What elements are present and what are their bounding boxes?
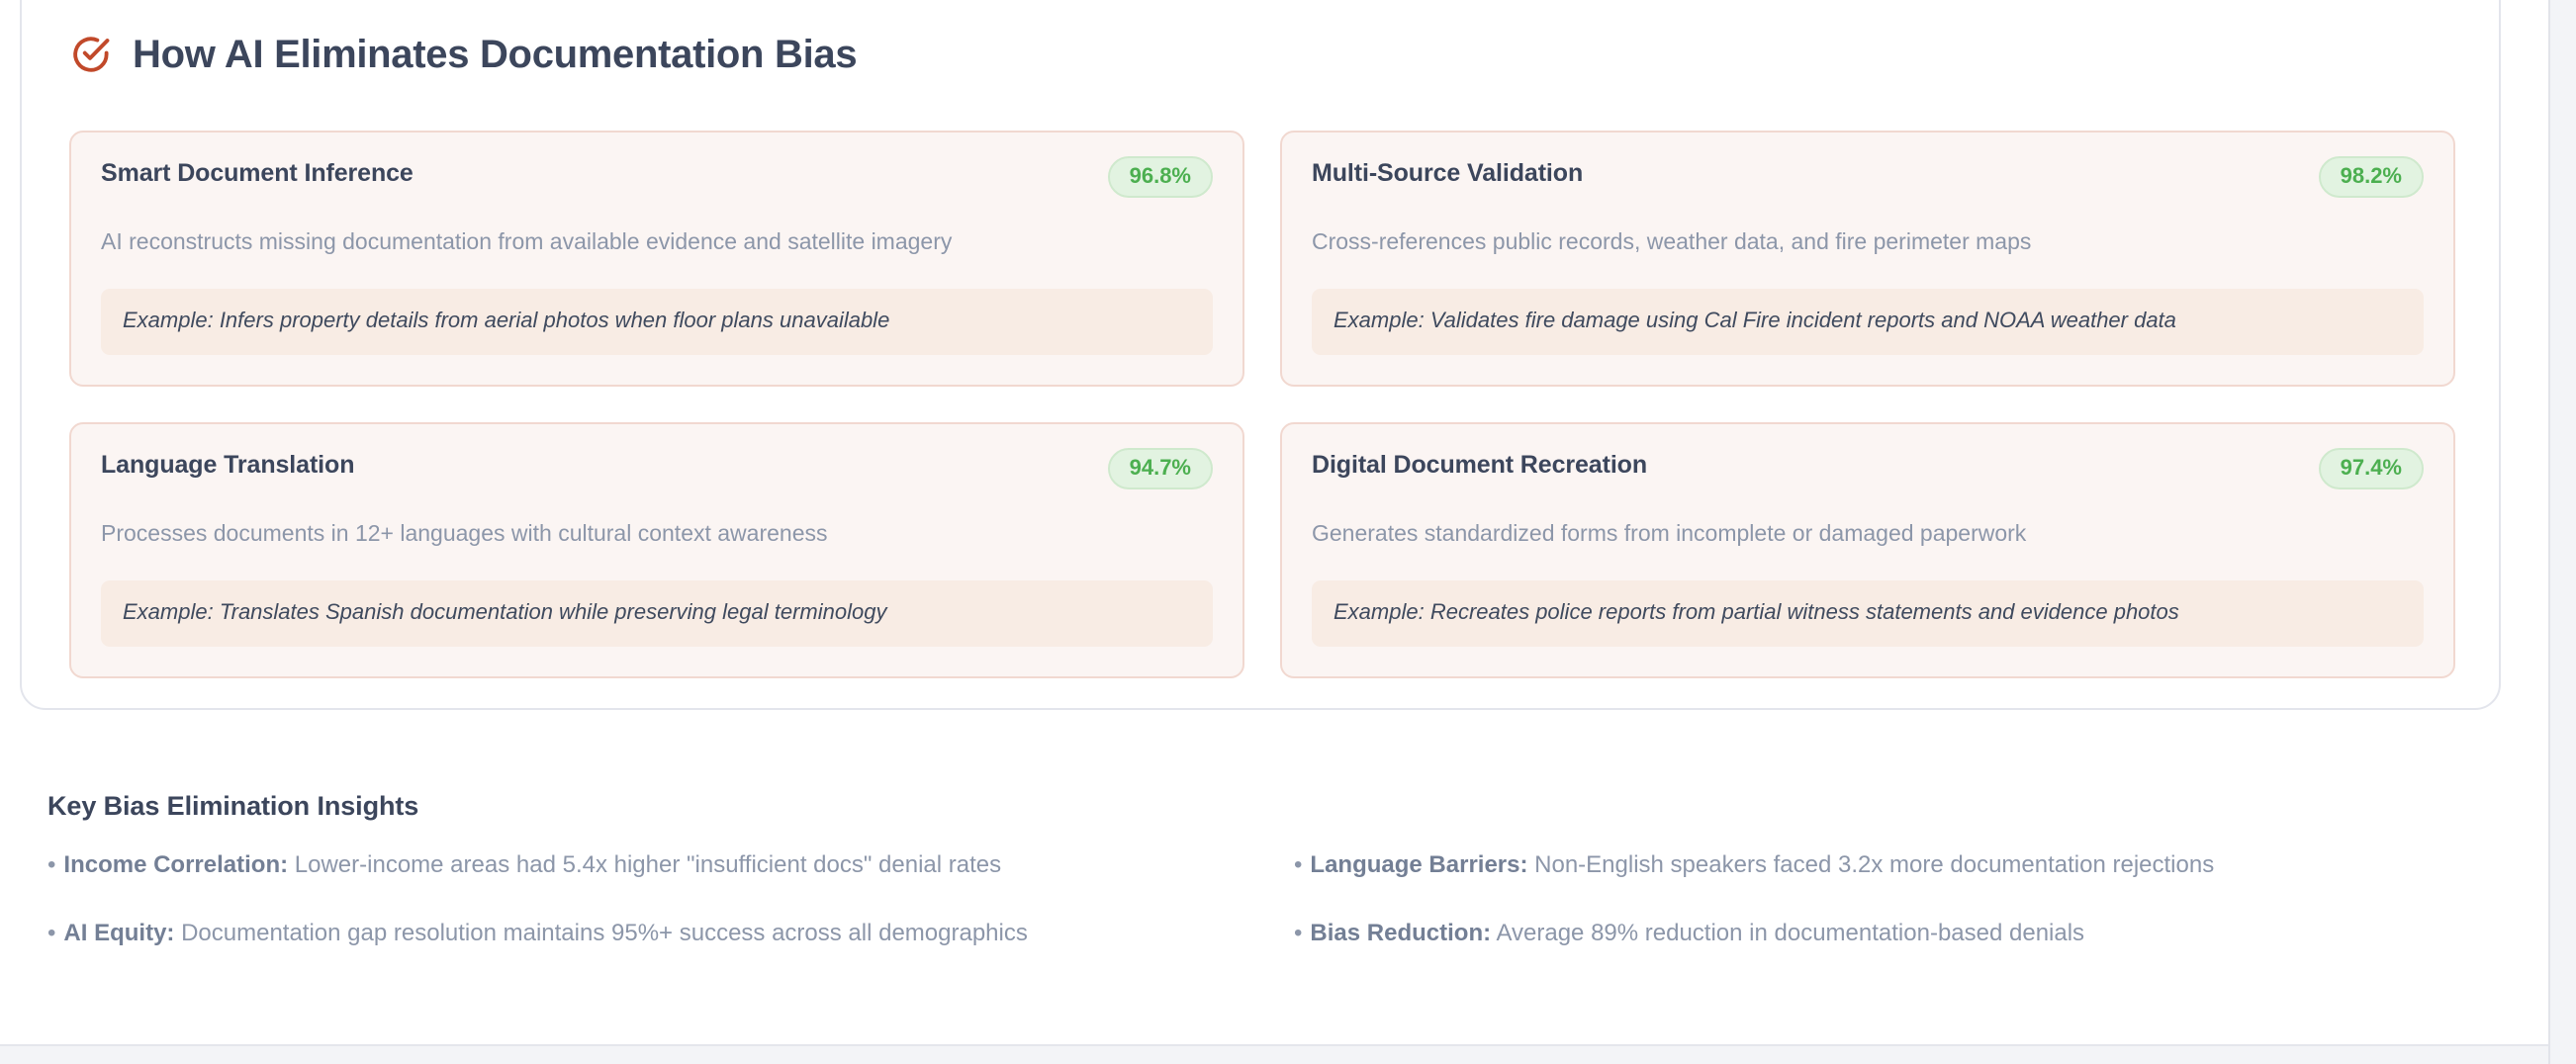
feature-card-digital-document-recreation[interactable]: Digital Document Recreation 97.4% Genera… (1280, 422, 2455, 678)
feature-cards-grid: Smart Document Inference 96.8% AI recons… (69, 131, 2455, 678)
card-example: Example: Recreates police reports from p… (1312, 580, 2424, 647)
insight-item: •Bias Reduction: Average 89% reduction i… (1294, 918, 2461, 948)
card-description: Cross-references public records, weather… (1312, 227, 2424, 257)
accuracy-badge: 98.2% (2319, 156, 2424, 198)
accuracy-badge: 94.7% (1108, 448, 1213, 489)
page-title: How AI Eliminates Documentation Bias (133, 35, 857, 74)
vertical-scrollbar[interactable] (2548, 0, 2576, 1064)
bullet-icon: • (47, 851, 55, 878)
card-title: Multi-Source Validation (1312, 158, 1583, 188)
card-title: Smart Document Inference (101, 158, 414, 188)
card-example: Example: Infers property details from ae… (101, 289, 1213, 355)
card-header: Language Translation 94.7% (101, 450, 1213, 489)
card-description: AI reconstructs missing documentation fr… (101, 227, 1213, 257)
insights-title: Key Bias Elimination Insights (47, 791, 2461, 822)
card-title: Digital Document Recreation (1312, 450, 1647, 480)
card-description: Generates standardized forms from incomp… (1312, 519, 2424, 549)
insight-item: •AI Equity: Documentation gap resolution… (47, 918, 1274, 948)
feature-card-smart-document-inference[interactable]: Smart Document Inference 96.8% AI recons… (69, 131, 1244, 387)
insight-label: Bias Reduction: (1310, 920, 1491, 946)
insight-label: Income Correlation: (63, 851, 288, 878)
card-header: Smart Document Inference 96.8% (101, 158, 1213, 198)
card-title: Language Translation (101, 450, 354, 480)
bullet-icon: • (1294, 851, 1302, 878)
bullet-icon: • (1294, 920, 1302, 946)
panel-header: How AI Eliminates Documentation Bias (69, 34, 857, 75)
insight-text: Non-English speakers faced 3.2x more doc… (1534, 851, 2214, 878)
page-root: How AI Eliminates Documentation Bias Sma… (0, 0, 2576, 1064)
card-description: Processes documents in 12+ languages wit… (101, 519, 1213, 549)
accuracy-badge: 97.4% (2319, 448, 2424, 489)
documentation-bias-panel: How AI Eliminates Documentation Bias Sma… (20, 0, 2501, 710)
accuracy-badge: 96.8% (1108, 156, 1213, 198)
insight-text: Average 89% reduction in documentation-b… (1496, 920, 2084, 946)
bottom-strip (0, 1046, 2548, 1064)
feature-card-multi-source-validation[interactable]: Multi-Source Validation 98.2% Cross-refe… (1280, 131, 2455, 387)
insight-label: AI Equity: (63, 920, 174, 946)
insights-grid: •Income Correlation: Lower-income areas … (47, 849, 2461, 948)
card-header: Multi-Source Validation 98.2% (1312, 158, 2424, 198)
circle-check-icon (69, 34, 111, 75)
key-insights-section: Key Bias Elimination Insights •Income Co… (47, 791, 2461, 948)
card-example: Example: Validates fire damage using Cal… (1312, 289, 2424, 355)
insight-item: •Income Correlation: Lower-income areas … (47, 849, 1274, 880)
insight-text: Documentation gap resolution maintains 9… (181, 920, 1028, 946)
card-header: Digital Document Recreation 97.4% (1312, 450, 2424, 489)
bullet-icon: • (47, 920, 55, 946)
insight-text: Lower-income areas had 5.4x higher "insu… (295, 851, 1001, 878)
card-example: Example: Translates Spanish documentatio… (101, 580, 1213, 647)
feature-card-language-translation[interactable]: Language Translation 94.7% Processes doc… (69, 422, 1244, 678)
insight-item: •Language Barriers: Non-English speakers… (1294, 849, 2461, 880)
insight-label: Language Barriers: (1310, 851, 1527, 878)
